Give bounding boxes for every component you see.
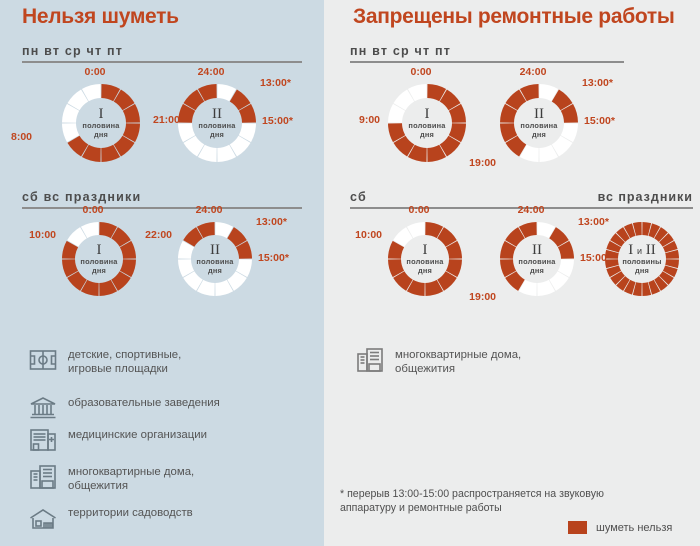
legend-item-school: образовательные заведения xyxy=(28,393,318,423)
day-group-left-weekdays: пн вт ср чт пт xyxy=(22,44,302,63)
time-label: 21:00 xyxy=(153,115,170,126)
time-label: 8:00 xyxy=(11,132,32,143)
day-group-left-weekend: сб вс праздники xyxy=(22,190,302,209)
time-label: 15:00* xyxy=(258,253,289,264)
divider xyxy=(350,207,624,209)
left-panel-title: Нельзя шуметь xyxy=(22,5,179,29)
time-label: 24:00 xyxy=(518,205,545,216)
time-label: 0:00 xyxy=(410,67,431,78)
time-label: 13:00* xyxy=(260,78,291,89)
time-label: 10:00 xyxy=(29,230,56,241)
legend-item-label: многоквартирные дома, общежития xyxy=(68,462,194,494)
time-label: 19:00 xyxy=(469,292,496,303)
time-label: 24:00 xyxy=(520,67,547,78)
garden-house-icon xyxy=(28,503,58,533)
donut-chart-left-weekday-first: Iполовинадня0:008:00 xyxy=(62,84,140,162)
time-label: 0:00 xyxy=(408,205,429,216)
hospital-icon xyxy=(28,425,58,455)
legend-item-hospital: медицинские организации xyxy=(28,425,318,455)
legend-key-label: шуметь нельзя xyxy=(596,522,672,534)
donut-chart-left-weekend-first: Iполовинадня0:0010:00 xyxy=(62,222,136,296)
time-label: 19:00 xyxy=(469,158,496,169)
time-label: 24:00 xyxy=(198,67,225,78)
donut-chart-right-saturday-second: IIполовинадня24:0013:00*15:0019:00 xyxy=(500,222,574,296)
donut-chart-left-weekday-second: IIполовинадня24:0013:00*15:00*21:00 xyxy=(178,84,256,162)
right-panel-title: Запрещены ремонтные работы xyxy=(353,5,675,29)
day-group-label: сб вс праздники xyxy=(22,190,302,206)
time-label: 10:00 xyxy=(355,230,382,241)
legend-item-garden-house: территории садоводств xyxy=(28,503,318,533)
time-label: 0:00 xyxy=(84,67,105,78)
day-group-label: сб xyxy=(350,190,624,206)
time-label: 15:00* xyxy=(584,116,615,127)
time-label: 0:00 xyxy=(82,205,103,216)
color-swatch-icon xyxy=(568,521,587,534)
donut-chart-left-weekend-second: IIполовинадня24:0013:00*15:00*22:00 xyxy=(178,222,252,296)
legend-item-label: образовательные заведения xyxy=(68,393,220,410)
legend-item-apartment: многоквартирные дома, общежития xyxy=(28,462,318,494)
legend-item-label: многоквартирные дома, общежития xyxy=(395,345,521,377)
time-label: 9:00 xyxy=(359,115,380,126)
divider xyxy=(22,61,302,63)
divider xyxy=(593,207,693,209)
time-label: 22:00 xyxy=(145,230,172,241)
day-group-label: вс праздники xyxy=(593,190,693,206)
day-group-label: пн вт ср чт пт xyxy=(350,44,624,60)
donut-chart-right-weekday-second: IIполовинадня24:0013:00*15:00*19:00 xyxy=(500,84,578,162)
school-icon xyxy=(28,393,58,423)
donut-chart-right-saturday-first: Iполовинадня0:0010:00 xyxy=(388,222,462,296)
time-label: 24:00 xyxy=(196,205,223,216)
apartment-icon xyxy=(355,345,385,375)
time-label: 15:00* xyxy=(262,116,293,127)
day-group-right-weekdays: пн вт ср чт пт xyxy=(350,44,624,63)
time-label: 13:00* xyxy=(582,78,613,89)
donut-chart-right-weekday-first: Iполовинадня0:009:00 xyxy=(388,84,466,162)
legend-item-label: медицинские организации xyxy=(68,425,207,442)
day-group-right-sunday: вс праздники xyxy=(593,190,693,209)
legend-item-label: территории садоводств xyxy=(68,503,193,520)
donut-chart-right-sunday-both: I и IIполовиныдня xyxy=(605,222,679,296)
legend-item-apartment: многоквартирные дома, общежития xyxy=(355,345,655,377)
day-group-right-saturday: сб xyxy=(350,190,624,209)
playground-icon xyxy=(28,345,58,375)
day-group-label: пн вт ср чт пт xyxy=(22,44,302,60)
divider xyxy=(22,207,302,209)
time-label: 15:00 xyxy=(580,253,607,264)
footnote: * перерыв 13:00-15:00 распространяется н… xyxy=(340,487,670,516)
apartment-icon xyxy=(28,462,58,492)
legend-key-noise: шуметь нельзя xyxy=(568,521,672,534)
legend-item-label: детские, спортивные, игровые площадки xyxy=(68,345,181,377)
legend-item-playground: детские, спортивные, игровые площадки xyxy=(28,345,318,377)
divider xyxy=(350,61,624,63)
time-label: 13:00* xyxy=(256,217,287,228)
